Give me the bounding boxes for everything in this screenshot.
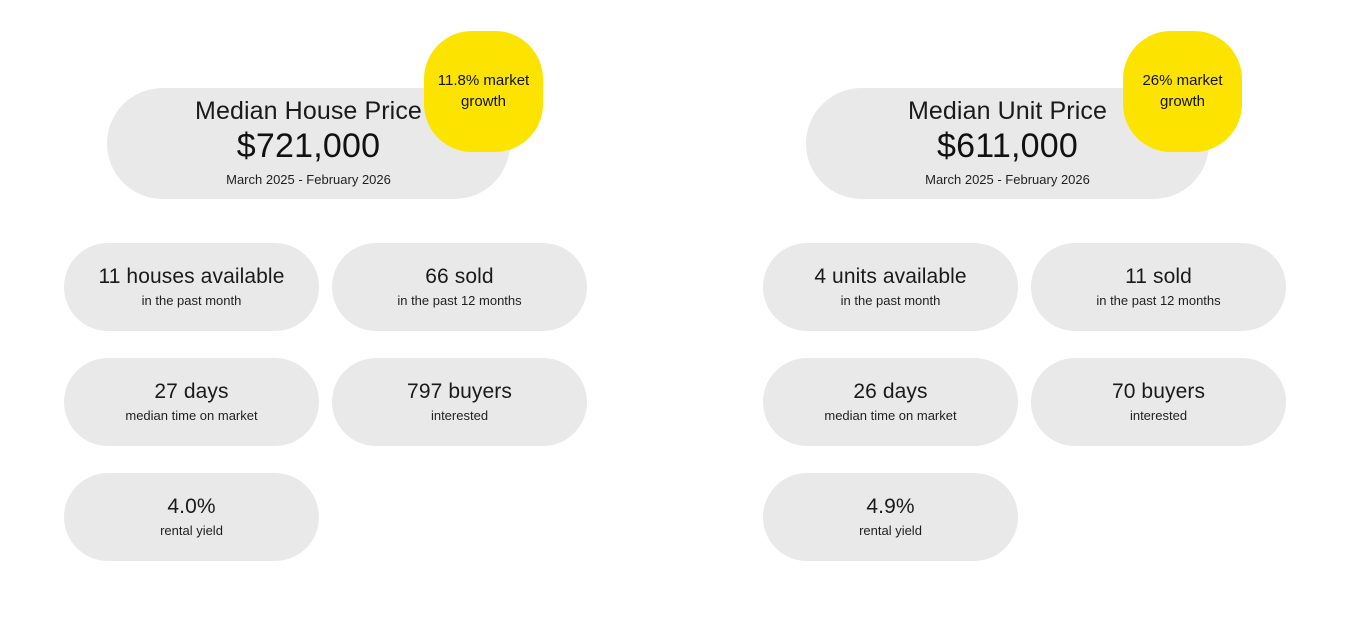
unit-available-pill: 4 units available in the past month: [763, 243, 1018, 331]
unit-sold-value: 11 sold: [1125, 265, 1192, 289]
median-unit-price-title: Median Unit Price: [908, 98, 1107, 126]
house-days-on-market-label: median time on market: [125, 408, 257, 424]
house-rental-yield-pill: 4.0% rental yield: [64, 473, 319, 561]
unit-buyers-pill: 70 buyers interested: [1031, 358, 1286, 446]
house-stats-group: Median House Price $721,000 March 2025 -…: [0, 0, 600, 630]
unit-stat-pills: 4 units available in the past month 11 s…: [763, 243, 1287, 561]
unit-market-growth-badge: 26% market growth: [1123, 31, 1242, 152]
unit-buyers-value: 70 buyers: [1112, 380, 1205, 404]
house-days-on-market-value: 27 days: [154, 380, 228, 404]
unit-rental-yield-value: 4.9%: [866, 495, 914, 519]
house-rental-yield-label: rental yield: [160, 523, 223, 539]
unit-available-value: 4 units available: [814, 265, 966, 289]
house-buyers-value: 797 buyers: [407, 380, 512, 404]
house-sold-label: in the past 12 months: [397, 293, 521, 309]
unit-stats-group: Median Unit Price $611,000 March 2025 - …: [699, 0, 1299, 630]
house-days-on-market-pill: 27 days median time on market: [64, 358, 319, 446]
house-available-label: in the past month: [142, 293, 242, 309]
house-stat-pills: 11 houses available in the past month 66…: [64, 243, 588, 561]
unit-rental-yield-pill: 4.9% rental yield: [763, 473, 1018, 561]
unit-sold-label: in the past 12 months: [1096, 293, 1220, 309]
house-stat-row-2: 27 days median time on market 797 buyers…: [64, 358, 588, 446]
unit-available-label: in the past month: [841, 293, 941, 309]
house-market-growth-badge: 11.8% market growth: [424, 31, 543, 152]
house-buyers-label: interested: [431, 408, 488, 424]
house-rental-yield-value: 4.0%: [167, 495, 215, 519]
house-header-zone: Median House Price $721,000 March 2025 -…: [0, 0, 600, 210]
house-market-growth-text: 11.8% market growth: [433, 71, 534, 112]
unit-rental-yield-label: rental yield: [859, 523, 922, 539]
unit-header-zone: Median Unit Price $611,000 March 2025 - …: [699, 0, 1299, 210]
median-unit-price-value: $611,000: [937, 126, 1078, 166]
house-stat-row-1: 11 houses available in the past month 66…: [64, 243, 588, 331]
median-house-price-title: Median House Price: [195, 98, 422, 126]
house-stat-row-3: 4.0% rental yield: [64, 473, 588, 561]
unit-stat-row-2: 26 days median time on market 70 buyers …: [763, 358, 1287, 446]
unit-sold-pill: 11 sold in the past 12 months: [1031, 243, 1286, 331]
house-sold-pill: 66 sold in the past 12 months: [332, 243, 587, 331]
house-sold-value: 66 sold: [425, 265, 493, 289]
unit-buyers-label: interested: [1130, 408, 1187, 424]
house-available-value: 11 houses available: [99, 265, 285, 289]
house-buyers-pill: 797 buyers interested: [332, 358, 587, 446]
median-house-price-value: $721,000: [237, 126, 380, 166]
unit-days-on-market-label: median time on market: [824, 408, 956, 424]
unit-days-on-market-pill: 26 days median time on market: [763, 358, 1018, 446]
unit-stat-row-3: 4.9% rental yield: [763, 473, 1287, 561]
unit-stat-row-1: 4 units available in the past month 11 s…: [763, 243, 1287, 331]
market-stats-board: Median House Price $721,000 March 2025 -…: [0, 0, 1350, 630]
median-unit-price-period: March 2025 - February 2026: [925, 172, 1090, 188]
median-house-price-period: March 2025 - February 2026: [226, 172, 391, 188]
house-available-pill: 11 houses available in the past month: [64, 243, 319, 331]
unit-days-on-market-value: 26 days: [853, 380, 927, 404]
unit-market-growth-text: 26% market growth: [1132, 71, 1233, 112]
